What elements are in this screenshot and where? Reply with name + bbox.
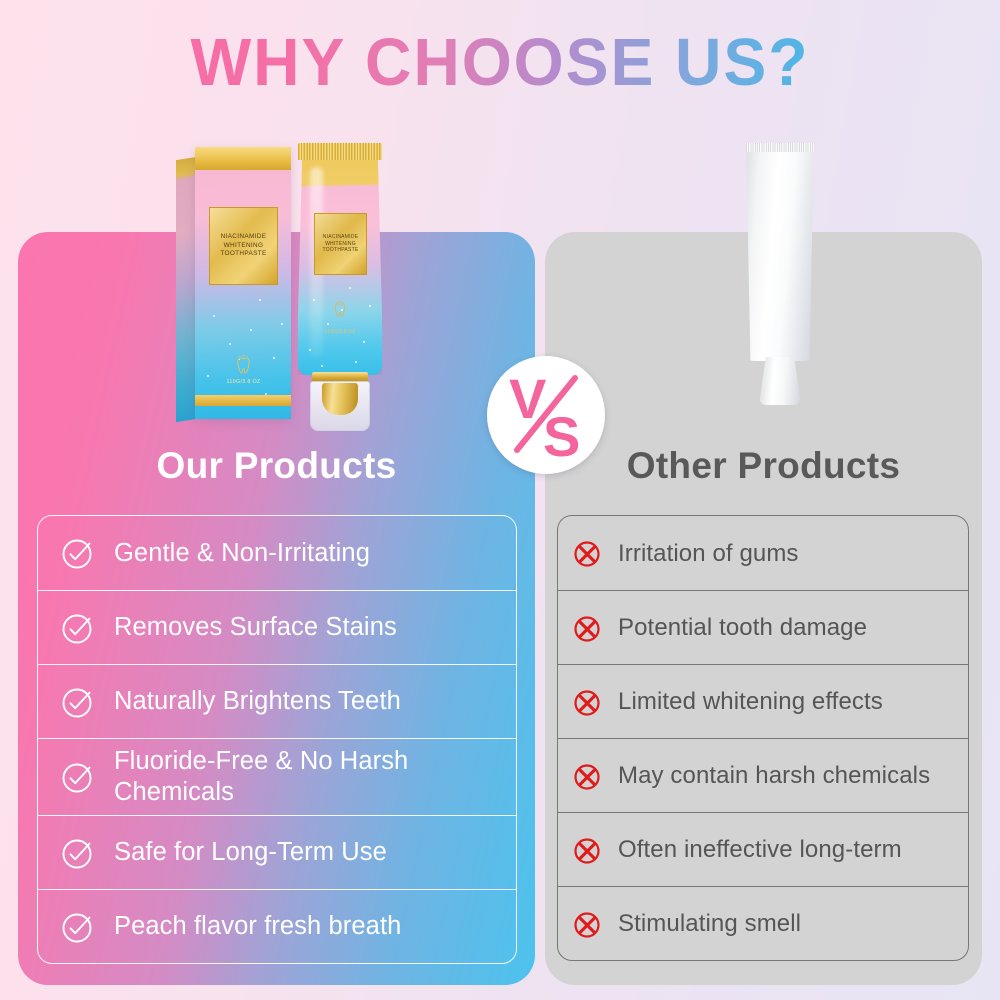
list-item-label: Fluoride-Free & No Harsh Chemicals bbox=[114, 746, 506, 808]
other-product-tube-crimp bbox=[746, 143, 814, 152]
list-item: Gentle & Non-Irritating bbox=[38, 516, 516, 590]
check-circle-icon bbox=[60, 835, 96, 871]
list-item-label: Often ineffective long-term bbox=[618, 835, 902, 864]
other-products-heading: Other Products bbox=[545, 445, 982, 487]
vs-badge-s: S bbox=[543, 405, 580, 468]
list-item: Removes Surface Stains bbox=[38, 590, 516, 664]
page-title: WHY CHOOSE US? bbox=[20, 26, 980, 100]
product-tube-label-text: NIACINAMIDE WHITENING TOOTHPASTE bbox=[323, 234, 359, 254]
list-item: Peach flavor fresh breath bbox=[38, 889, 516, 963]
list-item-label: Peach flavor fresh breath bbox=[114, 911, 401, 942]
other-products-list: Irritation of gums Potential tooth damag… bbox=[557, 515, 969, 961]
check-circle-icon bbox=[60, 909, 96, 945]
product-box-label: NIACINAMIDE WHITENING TOOTHPASTE bbox=[209, 207, 278, 285]
other-product-image bbox=[735, 143, 825, 433]
check-circle-icon bbox=[60, 759, 96, 795]
list-item: Irritation of gums bbox=[558, 516, 968, 590]
vs-badge: V S bbox=[487, 356, 605, 474]
list-item-label: Limited whitening effects bbox=[618, 687, 883, 716]
product-box-top-band bbox=[195, 147, 291, 170]
cross-circle-icon bbox=[572, 687, 602, 717]
product-tube-weight: 110G/3.8 OZ bbox=[310, 329, 370, 335]
product-tube-label: NIACINAMIDE WHITENING TOOTHPASTE bbox=[314, 213, 367, 275]
list-item-label: Safe for Long-Term Use bbox=[114, 837, 387, 868]
our-product-image: NIACINAMIDE WHITENING TOOTHPASTE 110G/3.… bbox=[170, 125, 420, 430]
our-products-list: Gentle & Non-Irritating Removes Surface … bbox=[37, 515, 517, 964]
list-item-label: Gentle & Non-Irritating bbox=[114, 538, 370, 569]
cross-circle-icon bbox=[572, 835, 602, 865]
product-box-bottom-band bbox=[195, 395, 291, 406]
list-item-label: Removes Surface Stains bbox=[114, 612, 397, 643]
list-item: Limited whitening effects bbox=[558, 664, 968, 738]
cross-circle-icon bbox=[572, 613, 602, 643]
product-box-side bbox=[176, 157, 196, 422]
list-item-label: Irritation of gums bbox=[618, 539, 799, 568]
list-item-label: Naturally Brightens Teeth bbox=[114, 686, 401, 717]
cross-circle-icon bbox=[572, 909, 602, 939]
list-item-label: May contain harsh chemicals bbox=[618, 761, 930, 790]
product-tube-cap-gold bbox=[322, 383, 358, 415]
list-item: May contain harsh chemicals bbox=[558, 738, 968, 812]
product-box-label-text: NIACINAMIDE WHITENING TOOTHPASTE bbox=[220, 233, 266, 259]
cross-circle-icon bbox=[572, 761, 602, 791]
product-tube-crimp bbox=[298, 143, 382, 160]
other-product-tube-cap bbox=[759, 357, 801, 405]
list-item: Naturally Brightens Teeth bbox=[38, 664, 516, 738]
list-item: Potential tooth damage bbox=[558, 590, 968, 664]
check-circle-icon bbox=[60, 610, 96, 646]
check-circle-icon bbox=[60, 684, 96, 720]
tooth-logo-icon bbox=[234, 355, 253, 376]
list-item-label: Potential tooth damage bbox=[618, 613, 867, 642]
list-item: Often ineffective long-term bbox=[558, 812, 968, 886]
list-item: Safe for Long-Term Use bbox=[38, 815, 516, 889]
product-tube: NIACINAMIDE WHITENING TOOTHPASTE 110G/3.… bbox=[288, 143, 392, 433]
why-choose-us-poster: WHY CHOOSE US? Our Products Gentle & Non… bbox=[0, 0, 1000, 1000]
list-item-label: Stimulating smell bbox=[618, 909, 801, 938]
list-item: Fluoride-Free & No Harsh Chemicals bbox=[38, 738, 516, 815]
list-item: Stimulating smell bbox=[558, 886, 968, 960]
product-box-weight: 110G/3.8 OZ bbox=[209, 379, 278, 385]
tooth-logo-icon bbox=[332, 301, 348, 319]
our-products-heading: Our Products bbox=[18, 445, 535, 487]
other-product-tube-body bbox=[744, 151, 816, 361]
cross-circle-icon bbox=[572, 538, 602, 568]
check-circle-icon bbox=[60, 535, 96, 571]
